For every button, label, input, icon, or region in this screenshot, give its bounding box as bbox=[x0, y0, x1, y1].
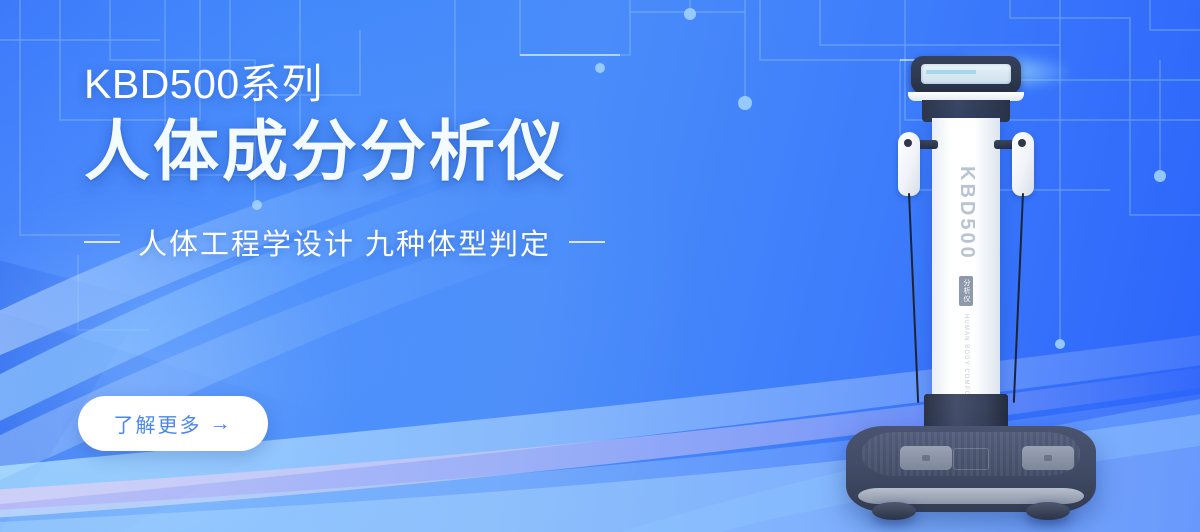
device-brand-label: KBD500 bbox=[954, 166, 978, 261]
device-leveling-foot-right bbox=[1026, 502, 1070, 520]
device-display-head bbox=[911, 56, 1021, 94]
device-cable-left bbox=[908, 193, 919, 403]
device-foot-electrode-left bbox=[900, 446, 952, 470]
hero-copy: KBD500系列 人体成分分析仪 人体工程学设计 九种体型判定 bbox=[84, 62, 724, 263]
device-base-surface bbox=[862, 432, 1080, 476]
dash-right-decoration bbox=[569, 241, 605, 243]
device-column: KBD500 分析仪 HUMAN BODY COMPOSITION ANALYZ… bbox=[932, 118, 1000, 418]
device-cable-right bbox=[1013, 193, 1024, 403]
device-leveling-foot-left bbox=[872, 502, 916, 520]
learn-more-button[interactable]: 了解更多 → bbox=[78, 396, 268, 451]
device-base-center-plate bbox=[953, 448, 989, 470]
arrow-right-icon: → bbox=[210, 412, 233, 436]
device-screen bbox=[921, 64, 1011, 84]
hero-banner: KBD500系列 人体成分分析仪 人体工程学设计 九种体型判定 了解更多 → K… bbox=[0, 0, 1200, 532]
device-base-platform bbox=[846, 426, 1096, 512]
product-image-body-composition-analyzer: KBD500 分析仪 HUMAN BODY COMPOSITION ANALYZ… bbox=[836, 48, 1166, 518]
subtitle-text: 人体工程学设计 九种体型判定 bbox=[138, 221, 551, 263]
page-title: 人体成分分析仪 bbox=[84, 114, 724, 189]
device-badge-label: 分析仪 bbox=[959, 276, 973, 306]
device-hand-electrode-left bbox=[898, 132, 920, 196]
device-foot-electrode-right bbox=[1022, 446, 1074, 470]
device-hand-electrode-right bbox=[1012, 132, 1034, 196]
dash-left-decoration bbox=[84, 241, 120, 243]
subtitle-row: 人体工程学设计 九种体型判定 bbox=[84, 221, 724, 263]
learn-more-label: 了解更多 bbox=[114, 409, 202, 438]
product-series-eyebrow: KBD500系列 bbox=[84, 62, 724, 108]
